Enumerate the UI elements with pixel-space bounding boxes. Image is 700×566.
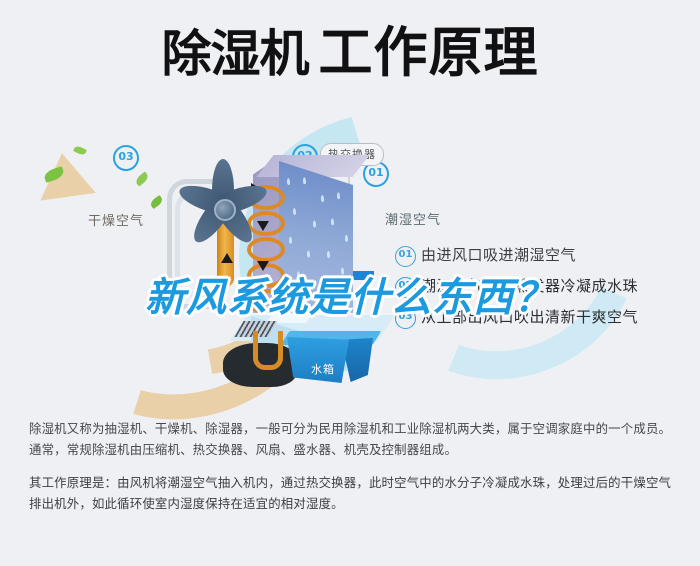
page-title-primary: 除湿机 (162, 25, 309, 83)
dry-air-arrowhead-icon (34, 149, 96, 200)
overlay-headline: 新风系统是什么东西？ (0, 265, 700, 323)
water-tank: 水箱 (287, 337, 373, 389)
paragraph-1-line-2: 通常，常规除湿机由压缩机、热交换器、风扇、盛水器、机壳及控制器组成。 (29, 439, 677, 460)
page-title-secondary: 工作原理 (319, 21, 539, 84)
fan-icon (170, 155, 274, 259)
page-title: 除湿机工作原理 (0, 26, 700, 80)
badge-03-dry-air: 03 (113, 145, 139, 171)
step-text: 由进风口吸进潮湿空气 (421, 244, 576, 265)
body-copy: 除湿机又称为抽湿机、干燥机、除湿器，一般可分为民用除湿机和工业除湿机两大类，属于… (29, 418, 677, 514)
dry-air-label: 干燥空气 (88, 210, 144, 229)
step-number: 01 (395, 246, 416, 267)
paragraph-1-line-1: 除湿机又称为抽湿机、干燥机、除湿器，一般可分为民用除湿机和工业除湿机两大类，属于… (29, 418, 677, 439)
paragraph-2-line-2: 排出机外，如此循环使室内湿度保持在适宜的相对湿度。 (29, 493, 677, 514)
compressor-copper-tube-icon (253, 331, 283, 370)
paragraph-2-line-1: 其工作原理是：由风机将潮湿空气抽入机内，通过热交换器，此时空气中的水分子冷凝成水… (29, 472, 677, 493)
paragraph-spacer (29, 460, 677, 472)
infographic-page: 除湿机工作原理 03 干燥空气 01 潮湿空气 02 热交换器 (0, 0, 700, 566)
fan-hub-icon (214, 199, 236, 221)
water-tank-label: 水箱 (311, 361, 335, 377)
